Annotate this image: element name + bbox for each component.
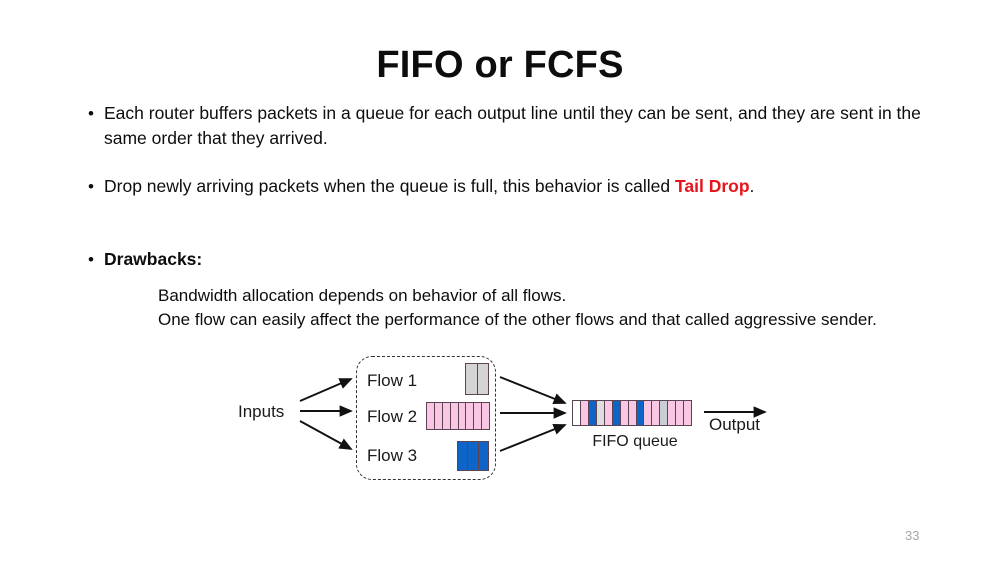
flow-label-1: Flow 1	[367, 371, 417, 391]
packet-cell	[652, 401, 660, 425]
packet-cell	[443, 403, 451, 429]
page-title: FIFO or FCFS	[0, 44, 1000, 87]
packet-cell	[613, 401, 621, 425]
packet-cell	[478, 364, 489, 394]
page-number: 33	[905, 528, 919, 543]
bullet-marker-icon: •	[82, 101, 104, 126]
packet-cell	[629, 401, 637, 425]
flow-3-packet-bar	[457, 441, 489, 471]
packet-cell	[459, 403, 467, 429]
bullet-text-1: Each router buffers packets in a queue f…	[104, 101, 922, 151]
fifo-queue-diagram: Inputs Flow 1 Flow 2 Flow 3 FIFO queue O…	[220, 345, 780, 495]
flow-label-3: Flow 3	[367, 446, 417, 466]
packet-cell	[474, 403, 482, 429]
slide-canvas: FIFO or FCFS • Each router buffers packe…	[0, 0, 1000, 563]
flow-1-packet-bar	[465, 363, 489, 395]
packet-cell	[466, 403, 474, 429]
diagram-arrows	[220, 345, 780, 495]
packet-cell	[482, 403, 489, 429]
bullet-item-1: • Each router buffers packets in a queue…	[82, 101, 922, 151]
packet-cell	[637, 401, 645, 425]
packet-cell	[589, 401, 597, 425]
packet-cell	[597, 401, 605, 425]
packet-cell	[435, 403, 443, 429]
bullet-marker-icon: •	[82, 174, 104, 199]
bullet-text-3: Drawbacks:	[104, 247, 202, 272]
packet-cell	[468, 442, 478, 470]
tail-drop-highlight: Tail Drop	[675, 176, 750, 196]
packet-cell	[581, 401, 589, 425]
output-label: Output	[709, 415, 760, 435]
packet-cell	[479, 442, 488, 470]
packet-cell	[644, 401, 652, 425]
packet-cell	[451, 403, 459, 429]
drawbacks-line-1: Bandwidth allocation depends on behavior…	[158, 284, 958, 308]
fifo-queue-label: FIFO queue	[576, 433, 694, 451]
flow-label-2: Flow 2	[367, 407, 417, 427]
packet-cell	[684, 401, 691, 425]
fifo-queue-bar	[572, 400, 692, 426]
packet-cell	[660, 401, 668, 425]
packet-cell	[466, 364, 478, 394]
packet-cell	[668, 401, 676, 425]
packet-cell	[458, 442, 468, 470]
packet-cell	[676, 401, 684, 425]
packet-cell	[573, 401, 581, 425]
packet-cell	[621, 401, 629, 425]
drawbacks-line-2: One flow can easily affect the performan…	[158, 308, 958, 332]
drawbacks-detail-list: Bandwidth allocation depends on behavior…	[158, 284, 958, 332]
bullet-item-3: • Drawbacks:	[82, 247, 922, 272]
bullet-marker-icon: •	[82, 247, 104, 272]
packet-cell	[605, 401, 613, 425]
bullet-text-2: Drop newly arriving packets when the que…	[104, 174, 754, 199]
flow-2-packet-bar	[426, 402, 490, 430]
packet-cell	[427, 403, 435, 429]
bullet-text-2-after: .	[750, 176, 755, 196]
inputs-label: Inputs	[238, 402, 284, 422]
bullet-text-2-before: Drop newly arriving packets when the que…	[104, 176, 675, 196]
bullet-item-2: • Drop newly arriving packets when the q…	[82, 174, 922, 199]
